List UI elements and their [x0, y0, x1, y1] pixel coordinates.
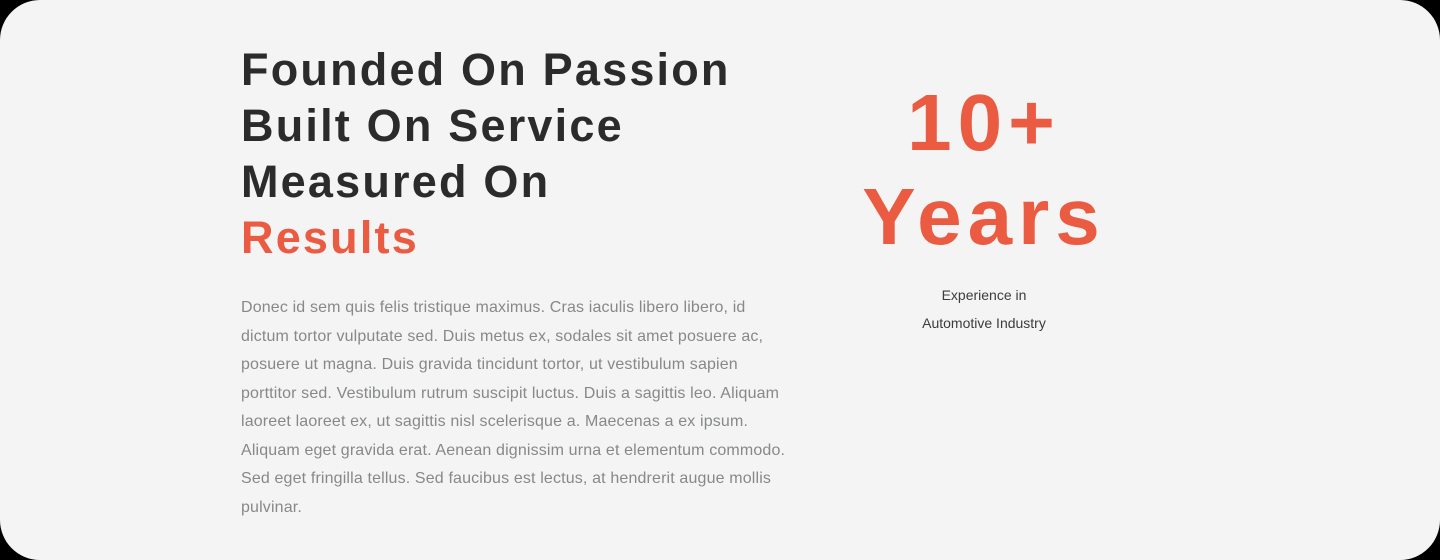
headline-column: Founded On Passion Built On Service Meas… [0, 0, 800, 522]
body-paragraph: Donec id sem quis felis tristique maximu… [241, 266, 789, 522]
stat-number: 10+ [907, 76, 1061, 170]
stat-column: 10+ Years Experience in Automotive Indus… [800, 0, 1440, 337]
headline-accent-line: Results [241, 210, 800, 266]
about-section-card: Founded On Passion Built On Service Meas… [0, 0, 1440, 560]
stat-caption: Experience in Automotive Industry [922, 264, 1046, 337]
page-title: Founded On Passion Built On Service Meas… [241, 42, 800, 266]
stat-unit: Years [862, 170, 1106, 264]
headline-main-lines: Founded On Passion Built On Service Meas… [241, 44, 731, 207]
section-layout: Founded On Passion Built On Service Meas… [0, 0, 1440, 560]
